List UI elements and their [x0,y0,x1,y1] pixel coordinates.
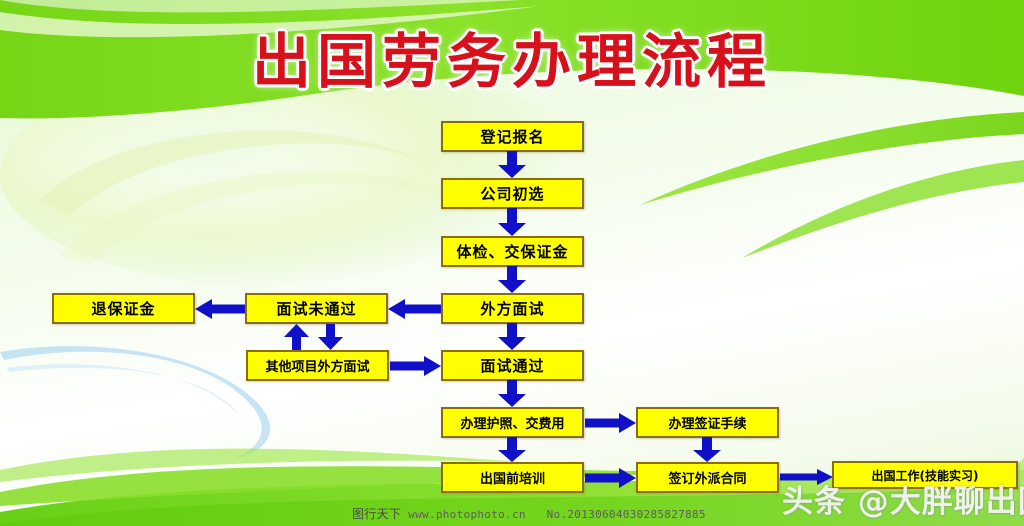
arrow-failed-to-other-project [318,324,344,351]
watermark-text: 头条 @大胖聊出国 [782,476,1024,521]
arrow-failed-to-refund [195,298,246,320]
arrow-medical-to-foreign-interview [497,266,527,294]
node-register[interactable]: 登记报名 [441,121,584,152]
node-company-screen[interactable]: 公司初选 [441,178,584,209]
node-pre-departure-training[interactable]: 出国前培训 [441,462,584,493]
arrow-register-to-company [497,151,527,179]
poster-canvas: 出国劳务办理流程 登记报名 公司初选 体检、交保证金 外方面试 面试未通过 退保… [0,0,1024,526]
footer-site-cn: 图行天下 [352,507,401,521]
node-foreign-interview[interactable]: 外方面试 [441,293,584,324]
arrow-training-to-contract [584,467,637,489]
arrow-passed-to-passport [497,380,527,408]
footer-site-url: www.photophoto.cn [408,508,526,521]
node-interview-failed[interactable]: 面试未通过 [245,293,388,324]
arrow-visa-to-contract [692,437,722,463]
node-refund-deposit[interactable]: 退保证金 [52,293,195,324]
arrow-foreign-interview-to-failed [388,298,442,320]
footer-image-no: No.20130604030285827885 [547,508,706,521]
arrow-passport-to-training [497,437,527,463]
arrow-other-project-to-failed [284,324,310,351]
footer-credit: 图行天下 www.photophoto.cn No.20130604030285… [352,505,706,522]
arrow-other-project-to-passed [389,355,442,377]
arrow-company-to-medical [497,208,527,237]
node-interview-passed[interactable]: 面试通过 [441,350,584,381]
node-other-project-interview[interactable]: 其他项目外方面试 [246,350,389,381]
arrow-passport-to-visa [584,412,637,434]
arrow-foreign-interview-to-passed [497,323,527,351]
page-title: 出国劳务办理流程 [0,26,1024,98]
node-medical-deposit[interactable]: 体检、交保证金 [441,236,584,267]
node-sign-contract[interactable]: 签订外派合同 [636,462,779,493]
node-visa-procedure[interactable]: 办理签证手续 [636,407,779,438]
node-passport-fee[interactable]: 办理护照、交费用 [441,407,584,438]
